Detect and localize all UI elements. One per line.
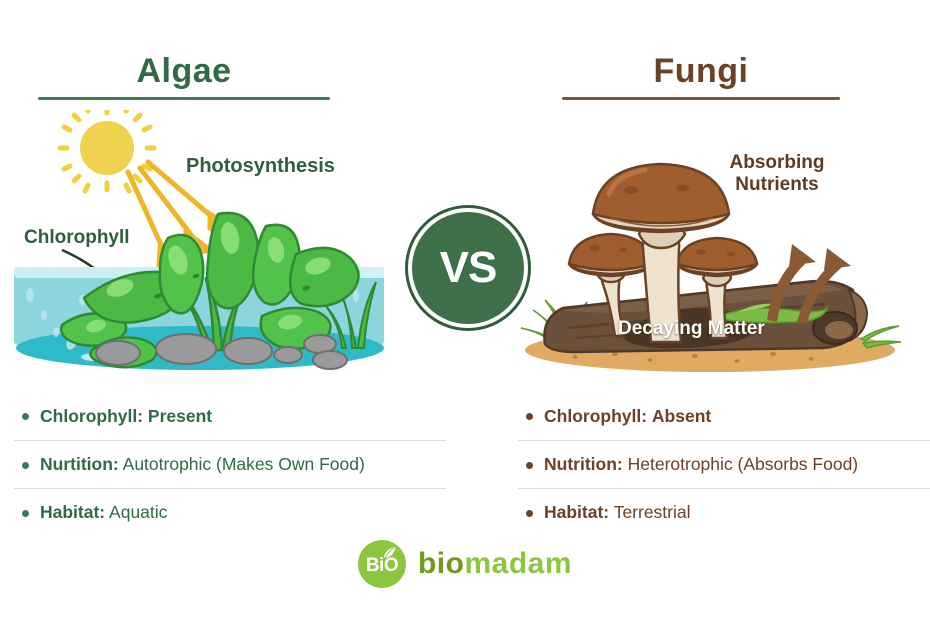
list-item-value: Aquatic [109, 502, 167, 522]
list-item-value: Absent [652, 406, 711, 426]
list-item-key: Habitat: [40, 502, 105, 522]
absorbing-nutrients-label: Absorbing Nutrients [722, 152, 832, 197]
list-item-value: Autotrophic (Makes Own Food) [123, 454, 365, 474]
infographic-canvas: Algae Fungi [0, 0, 930, 620]
list-item-text: Nurtition: Autotrophic (Makes Own Food) [40, 454, 365, 475]
fungi-svg [505, 140, 930, 380]
logo-mark-icon: BiO [358, 540, 406, 588]
list-item-key: Nutrition: [544, 454, 623, 474]
bullet-icon [526, 462, 533, 469]
photosynthesis-label: Photosynthesis [186, 155, 335, 178]
algae-column-title: Algae [38, 52, 330, 91]
list-item-key: Chlorophyll: [544, 406, 647, 426]
algae-feature-list: Chlorophyll: Present Nurtition: Autotrop… [14, 392, 446, 536]
chlorophyll-label: Chlorophyll [24, 227, 130, 249]
logo-word-madam: madam [464, 547, 572, 580]
bullet-icon [22, 413, 29, 420]
list-item: Nurtition: Autotrophic (Makes Own Food) [14, 440, 446, 488]
list-item: Habitat: Aquatic [14, 488, 446, 536]
leaf-icon [383, 546, 396, 559]
versus-label: VS [440, 246, 497, 290]
fungi-title-underline [562, 97, 840, 100]
list-item: Chlorophyll: Present [14, 392, 446, 440]
algae-title-underline [38, 97, 330, 100]
grass-right [861, 326, 901, 348]
bullet-icon [526, 510, 533, 517]
bullet-icon [22, 462, 29, 469]
list-item-key: Chlorophyll: [40, 406, 143, 426]
logo-word-bio: bio [418, 547, 465, 580]
list-item-key: Habitat: [544, 502, 609, 522]
list-item-value: Terrestrial [614, 502, 691, 522]
biomadam-logo[interactable]: BiO biomadam [0, 538, 930, 590]
list-item: Nutrition: Heterotrophic (Absorbs Food) [518, 440, 930, 488]
logo-wordmark: biomadam [418, 547, 572, 581]
versus-badge: VS [408, 208, 528, 328]
list-item-text: Habitat: Terrestrial [544, 502, 691, 523]
list-item-text: Habitat: Aquatic [40, 502, 167, 523]
bullet-icon [22, 510, 29, 517]
list-item-value: Heterotrophic (Absorbs Food) [628, 454, 859, 474]
sun-icon [60, 110, 154, 191]
list-item: Chlorophyll: Absent [518, 392, 930, 440]
fungi-illustration [505, 140, 930, 380]
bullet-icon [526, 413, 533, 420]
list-item-value: Present [148, 406, 212, 426]
fungi-feature-list: Chlorophyll: Absent Nutrition: Heterotro… [518, 392, 930, 536]
fungi-column-title: Fungi [562, 52, 840, 91]
list-item-text: Chlorophyll: Present [40, 406, 212, 427]
decaying-matter-label: Decaying Matter [618, 318, 765, 340]
list-item-key: Nurtition: [40, 454, 119, 474]
list-item-text: Chlorophyll: Absent [544, 406, 711, 427]
list-item: Habitat: Terrestrial [518, 488, 930, 536]
list-item-text: Nutrition: Heterotrophic (Absorbs Food) [544, 454, 858, 475]
